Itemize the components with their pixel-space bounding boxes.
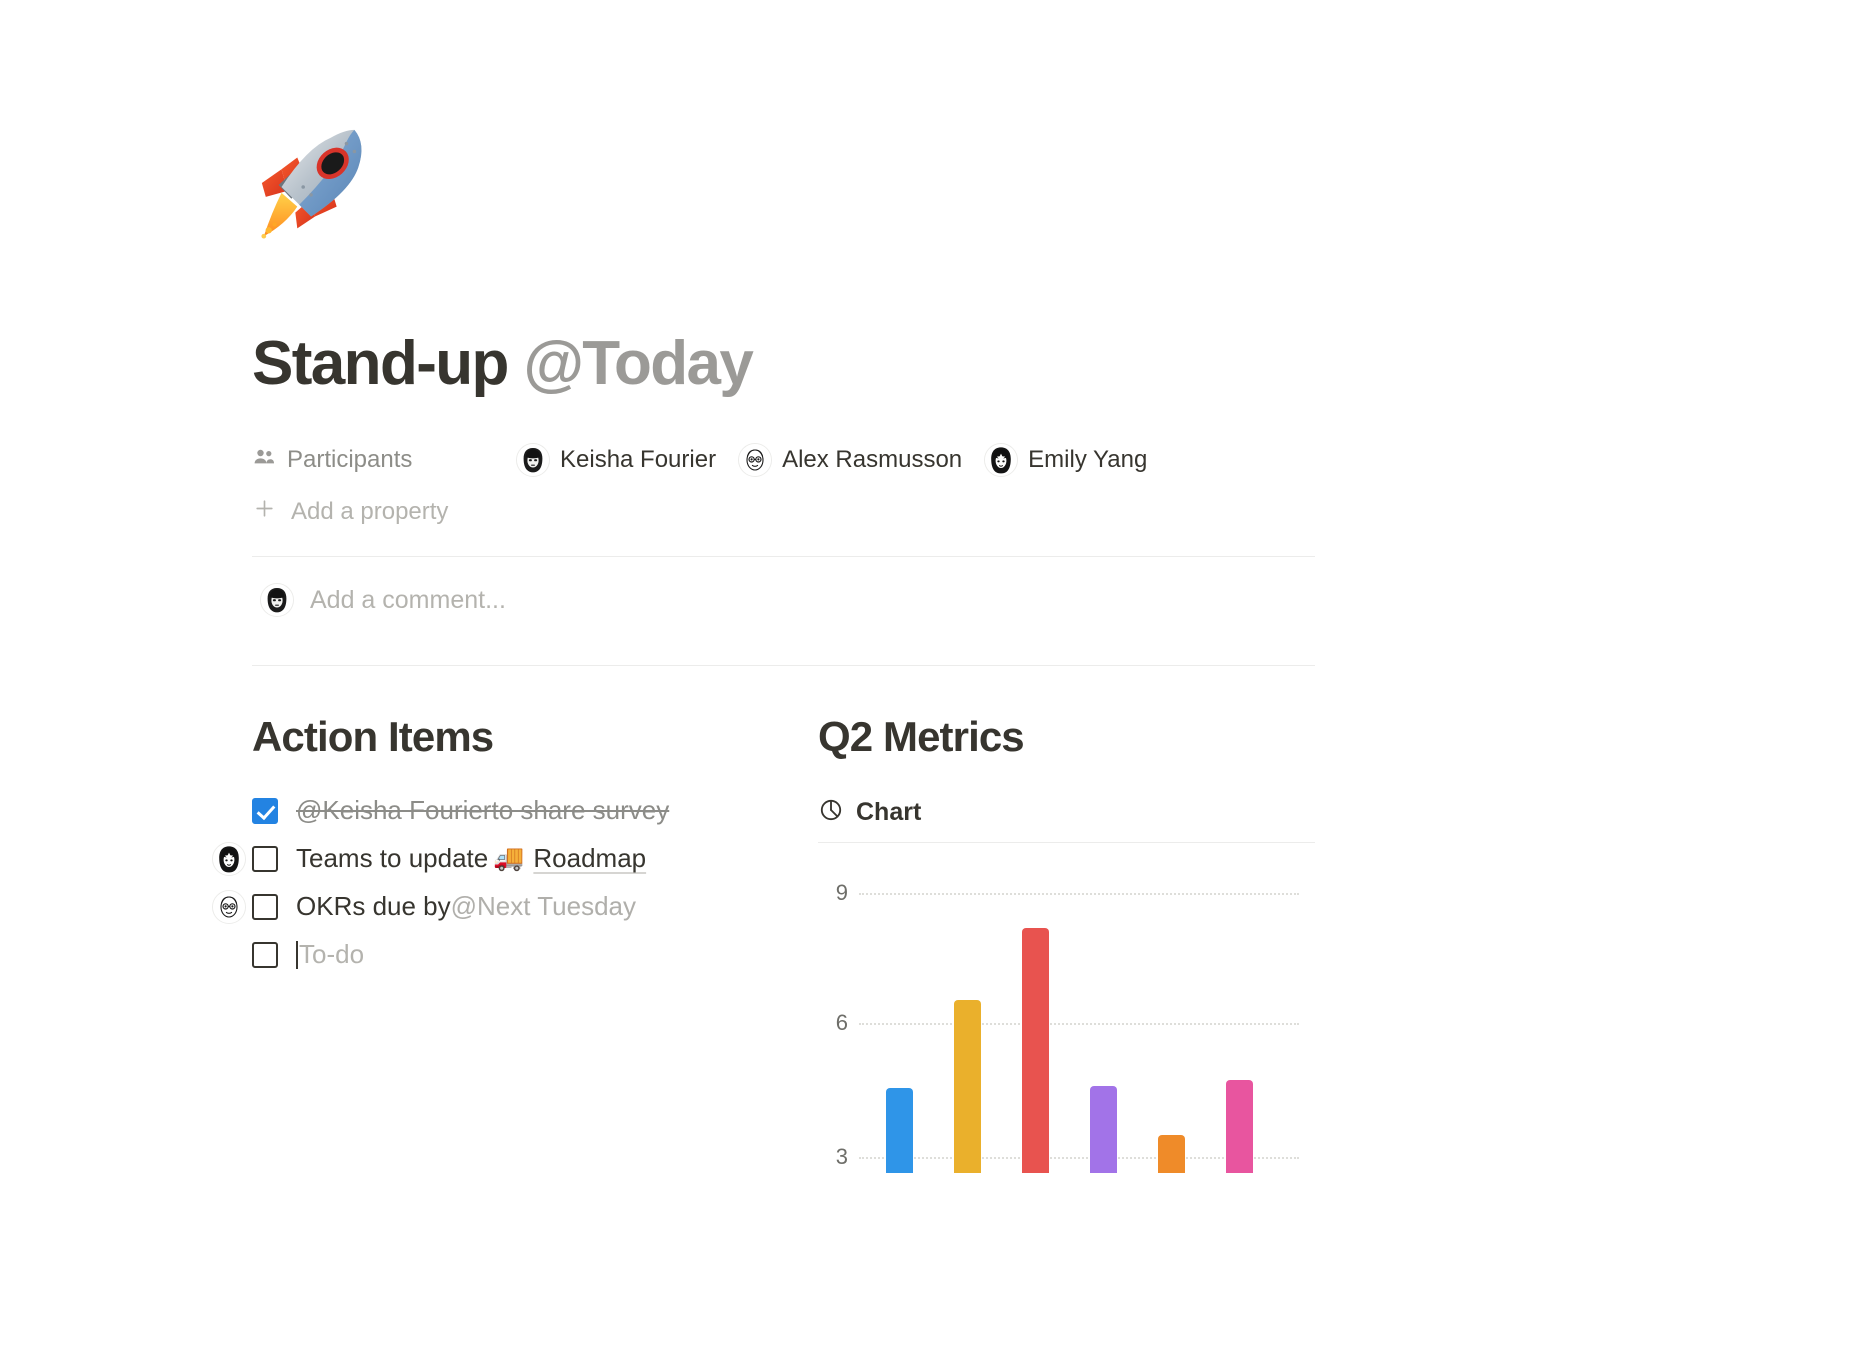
participant-chip[interactable]: Emily Yang	[984, 443, 1147, 477]
checkbox-checked[interactable]	[252, 798, 278, 824]
bar-6[interactable]	[1226, 1080, 1253, 1173]
property-name-participants: Participants	[287, 446, 412, 474]
chart-tab[interactable]: Chart	[818, 797, 1315, 842]
checkbox-unchecked[interactable]	[252, 942, 278, 968]
bar-2[interactable]	[954, 1000, 981, 1172]
page-title[interactable]: Stand-up @Today	[252, 330, 1322, 398]
text-cursor	[296, 941, 298, 969]
gridline-6	[859, 1023, 1299, 1025]
property-participants[interactable]: Participants	[252, 438, 1322, 482]
avatar	[516, 443, 550, 477]
participant-name: Keisha Fourier	[560, 446, 716, 474]
participant-name: Emily Yang	[1028, 446, 1147, 474]
mention-date[interactable]: @Next Tuesday	[451, 891, 636, 922]
notion-page: Stand-up @Today Participants	[0, 0, 1873, 1346]
bar-3[interactable]	[1022, 928, 1049, 1173]
bar-5[interactable]	[1158, 1135, 1185, 1173]
page-link-roadmap[interactable]: Roadmap	[533, 843, 646, 874]
action-items-heading: Action Items	[252, 712, 818, 762]
avatar	[212, 890, 246, 924]
avatar	[212, 842, 246, 876]
todo-item[interactable]: Teams to update🚚Roadmap	[252, 835, 818, 883]
avatar	[984, 443, 1018, 477]
checkbox-unchecked[interactable]	[252, 894, 278, 920]
participant-chip[interactable]: Keisha Fourier	[516, 443, 716, 477]
todo-list: @Keisha Fourier to share survey	[252, 787, 818, 979]
gridline-9	[859, 893, 1299, 895]
column-metrics: Q2 Metrics Chart 9	[818, 712, 1318, 1172]
delivery-truck-icon: 🚚	[493, 844, 524, 873]
participant-name: Alex Rasmusson	[782, 446, 962, 474]
todo-text-rest: to share survey	[491, 795, 669, 826]
comment-placeholder[interactable]: Add a comment...	[310, 586, 506, 615]
chart-tab-divider	[818, 842, 1315, 843]
add-property-label: Add a property	[291, 498, 448, 526]
comment-input-row[interactable]: Add a comment...	[252, 557, 1322, 643]
chart-tab-label: Chart	[856, 798, 921, 827]
todo-text[interactable]: To-do	[296, 939, 364, 970]
y-tick-6: 6	[818, 1010, 848, 1036]
bar-1[interactable]	[886, 1088, 913, 1172]
property-list: Participants	[252, 438, 1322, 534]
todo-text: @Keisha Fourier to share survey	[296, 795, 669, 826]
column-list: Action Items @Keisha Fourier to share su…	[252, 712, 1322, 1172]
bar-chart: 9 6 3	[818, 883, 1315, 1173]
mention-person[interactable]: @Keisha Fourier	[296, 795, 491, 826]
property-label-participants[interactable]: Participants	[252, 445, 516, 476]
checkbox-unchecked[interactable]	[252, 846, 278, 872]
column-action-items: Action Items @Keisha Fourier to share su…	[252, 712, 818, 1172]
page-content: Stand-up @Today Participants	[252, 0, 1322, 1173]
participants-value[interactable]: Keisha Fourier	[516, 443, 1169, 477]
metrics-heading: Q2 Metrics	[818, 712, 1318, 762]
todo-text: Teams to update🚚Roadmap	[296, 843, 646, 874]
rocket-icon[interactable]	[252, 122, 378, 248]
todo-item[interactable]: OKRs due by @Next Tuesday	[252, 883, 818, 931]
page-title-mention[interactable]: @Today	[523, 329, 752, 398]
avatar	[260, 583, 294, 617]
divider	[252, 665, 1315, 666]
todo-text: OKRs due by @Next Tuesday	[296, 891, 636, 922]
todo-item[interactable]: @Keisha Fourier to share survey	[252, 787, 818, 835]
todo-text-main: Teams to update	[296, 843, 488, 874]
y-tick-9: 9	[818, 880, 848, 906]
todo-item-empty[interactable]: To-do	[252, 931, 818, 979]
avatar	[738, 443, 772, 477]
todo-text-main: OKRs due by	[296, 891, 451, 922]
todo-placeholder: To-do	[299, 939, 364, 970]
participant-chip[interactable]: Alex Rasmusson	[738, 443, 962, 477]
y-tick-3: 3	[818, 1144, 848, 1170]
add-property-button[interactable]: Add a property	[252, 490, 1322, 534]
plus-icon	[252, 496, 277, 528]
people-icon	[252, 445, 276, 476]
pie-chart-icon	[818, 797, 844, 828]
page-title-text: Stand-up	[252, 329, 523, 398]
bar-4[interactable]	[1090, 1086, 1117, 1172]
